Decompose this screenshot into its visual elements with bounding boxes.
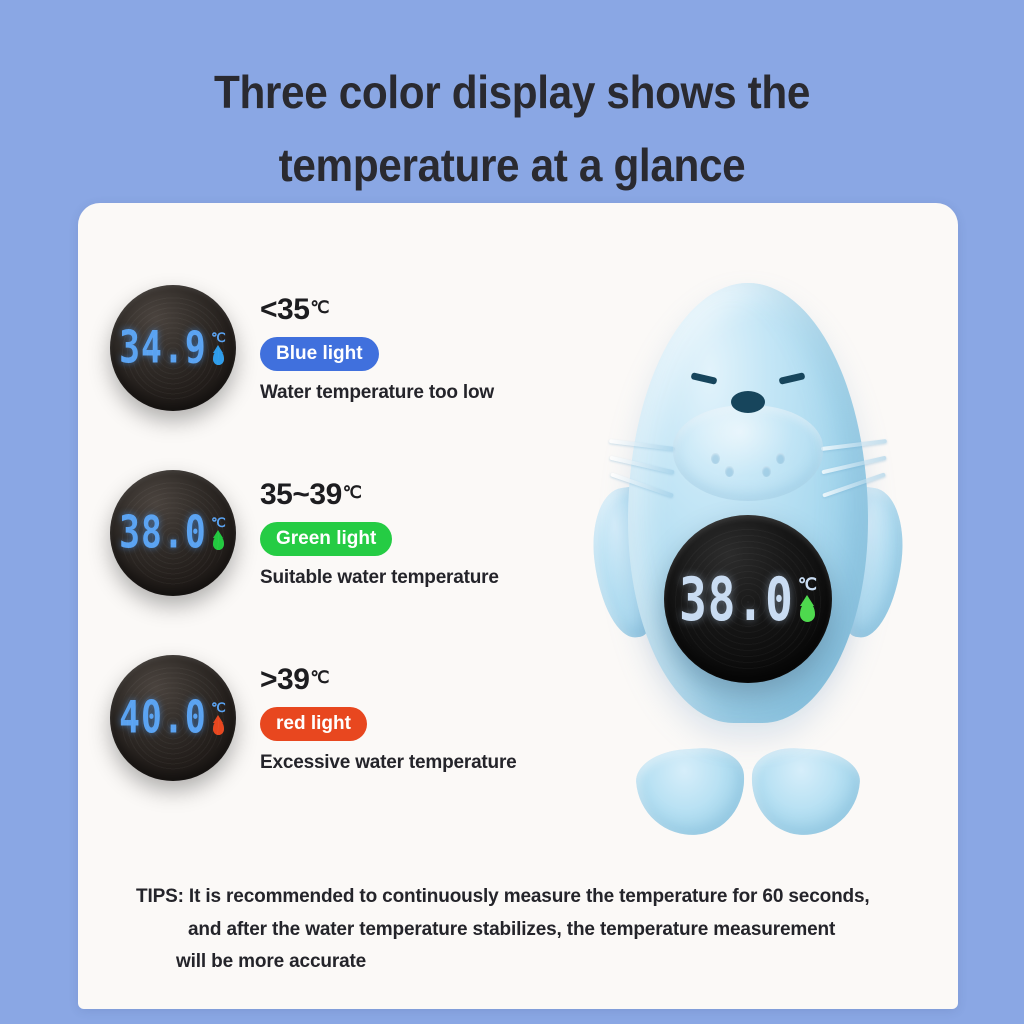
led-display-module-red: 40.0 ℃ bbox=[110, 655, 236, 781]
legend-item-blue: 34.9 ℃ <35℃ Blue light Water temperature… bbox=[100, 285, 530, 470]
page-title-line-1: Three color display shows the bbox=[41, 56, 983, 129]
celsius-label: ℃ bbox=[211, 701, 226, 714]
status-badge-blue: Blue light bbox=[260, 337, 379, 371]
range-unit: ℃ bbox=[310, 298, 329, 317]
celsius-label: ℃ bbox=[798, 576, 817, 593]
legend-item-green: 38.0 ℃ 35~39℃ Green light Suitable water… bbox=[100, 470, 530, 655]
range-value: >39 bbox=[260, 663, 309, 696]
range-unit: ℃ bbox=[343, 483, 362, 502]
page-title: Three color display shows the temperatur… bbox=[41, 56, 983, 201]
muzzle-dimple bbox=[711, 453, 720, 464]
temperature-range: <35℃ bbox=[260, 293, 530, 326]
legend-caption: Suitable water temperature bbox=[260, 567, 530, 589]
product-photo: 38.0 ℃ bbox=[538, 263, 948, 963]
nose-icon bbox=[731, 391, 765, 413]
range-unit: ℃ bbox=[310, 668, 329, 687]
legend-text-blue: <35℃ Blue light Water temperature too lo… bbox=[260, 293, 530, 404]
legend-text-green: 35~39℃ Green light Suitable water temper… bbox=[260, 478, 530, 589]
led-display-module-blue: 34.9 ℃ bbox=[110, 285, 236, 411]
tips-line-3: will be more accurate bbox=[136, 946, 926, 979]
legend-text-red: >39℃ red light Excessive water temperatu… bbox=[260, 663, 530, 774]
range-value: <35 bbox=[260, 293, 309, 326]
led-readout: 40.0 ℃ bbox=[110, 655, 236, 781]
seal-thermometer-figure: 38.0 ℃ bbox=[593, 283, 903, 843]
left-tail-flipper bbox=[634, 745, 748, 838]
led-unit-group: ℃ bbox=[211, 516, 226, 550]
product-screen-unit-group: ℃ bbox=[798, 576, 817, 622]
content-card: 34.9 ℃ <35℃ Blue light Water temperature… bbox=[78, 203, 958, 1009]
product-screen-digits: 38.0 bbox=[679, 564, 794, 634]
muzzle-dimple bbox=[725, 466, 734, 477]
range-value: 35~39 bbox=[260, 478, 342, 511]
temperature-range: 35~39℃ bbox=[260, 478, 530, 511]
led-digits: 34.9 bbox=[119, 322, 207, 375]
water-drop-icon bbox=[213, 720, 224, 735]
led-digits: 38.0 bbox=[119, 507, 207, 560]
celsius-label: ℃ bbox=[211, 516, 226, 529]
led-readout: 34.9 ℃ bbox=[110, 285, 236, 411]
led-display-module-green: 38.0 ℃ bbox=[110, 470, 236, 596]
temperature-range: >39℃ bbox=[260, 663, 530, 696]
water-drop-icon bbox=[800, 602, 815, 622]
muzzle-dimple bbox=[762, 466, 771, 477]
status-badge-green: Green light bbox=[260, 522, 392, 556]
tips-line-2: and after the water temperature stabiliz… bbox=[136, 914, 926, 947]
celsius-label: ℃ bbox=[211, 331, 226, 344]
legend-caption: Excessive water temperature bbox=[260, 752, 530, 774]
tips-text: TIPS: It is recommended to continuously … bbox=[136, 881, 926, 979]
water-drop-icon bbox=[213, 535, 224, 550]
led-readout: 38.0 ℃ bbox=[110, 470, 236, 596]
right-tail-flipper bbox=[748, 745, 862, 838]
led-unit-group: ℃ bbox=[211, 331, 226, 365]
muzzle-dimple bbox=[776, 453, 785, 464]
legend-item-red: 40.0 ℃ >39℃ red light Excessive water te… bbox=[100, 655, 530, 840]
led-digits: 40.0 bbox=[119, 692, 207, 745]
infographic-stage: Three color display shows the temperatur… bbox=[0, 0, 1024, 1024]
seal-muzzle bbox=[673, 405, 823, 501]
tips-line-1: TIPS: It is recommended to continuously … bbox=[136, 881, 926, 914]
product-led-screen: 38.0 ℃ bbox=[664, 515, 832, 683]
status-badge-red: red light bbox=[260, 707, 367, 741]
legend-caption: Water temperature too low bbox=[260, 382, 530, 404]
led-unit-group: ℃ bbox=[211, 701, 226, 735]
water-drop-icon bbox=[213, 350, 224, 365]
legend-list: 34.9 ℃ <35℃ Blue light Water temperature… bbox=[100, 285, 530, 840]
page-title-line-2: temperature at a glance bbox=[41, 129, 983, 202]
